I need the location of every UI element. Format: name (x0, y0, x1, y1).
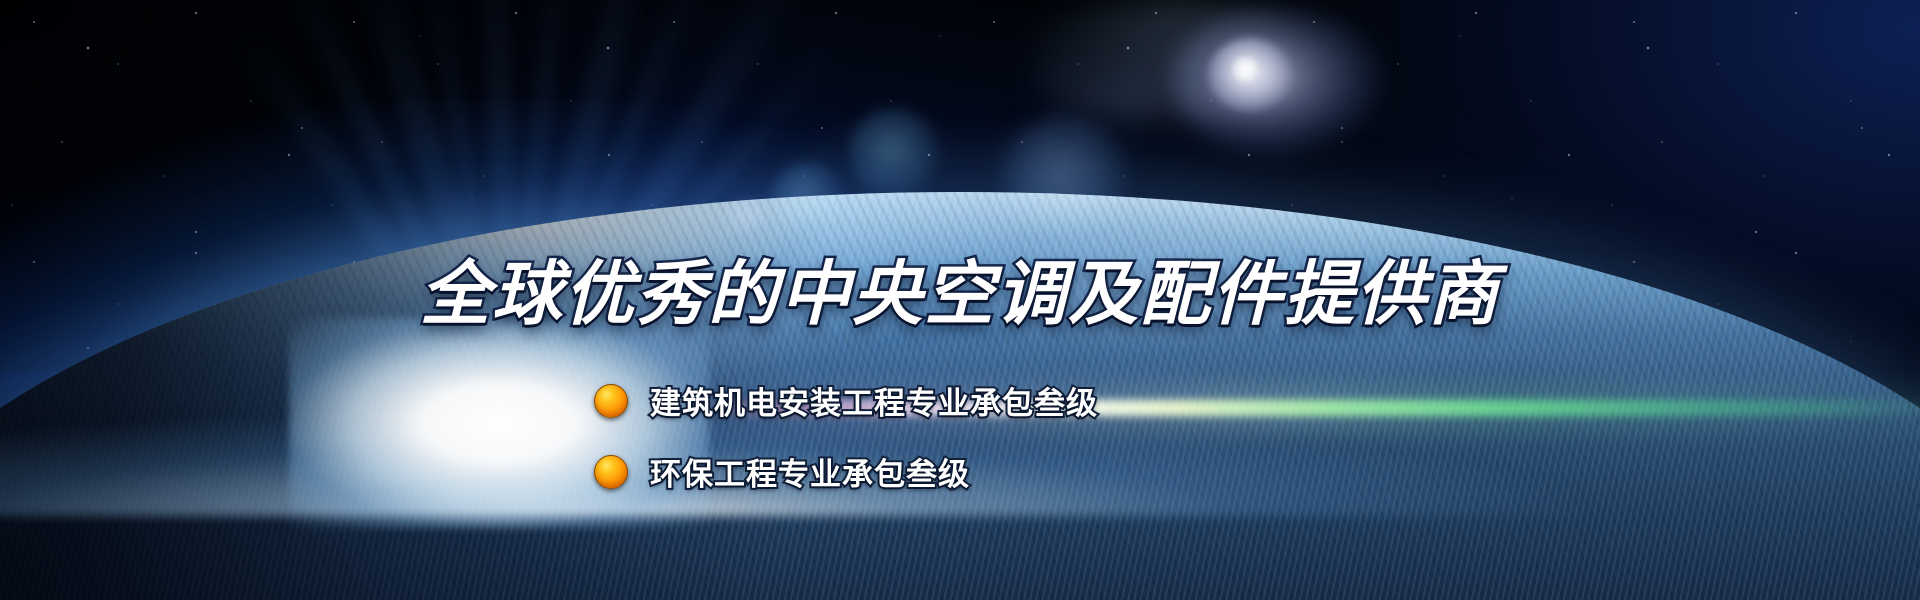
banner-content: 全球优秀的中央空调及配件提供商 建筑机电安装工程专业承包叁级 环保工程专业承包叁… (0, 0, 1920, 600)
hero-banner: 全球优秀的中央空调及配件提供商 建筑机电安装工程专业承包叁级 环保工程专业承包叁… (0, 0, 1920, 600)
page-title: 全球优秀的中央空调及配件提供商 (0, 238, 1920, 339)
list-item-label: 建筑机电安装工程专业承包叁级 (650, 378, 1098, 423)
list-item: 环保工程专业承包叁级 (594, 449, 1098, 494)
list-item: 建筑机电安装工程专业承包叁级 (594, 378, 1098, 423)
list-item-label: 环保工程专业承包叁级 (650, 449, 970, 494)
certification-list: 建筑机电安装工程专业承包叁级 环保工程专业承包叁级 (594, 378, 1098, 494)
bullet-dot-icon (594, 455, 628, 489)
bullet-dot-icon (594, 384, 628, 418)
